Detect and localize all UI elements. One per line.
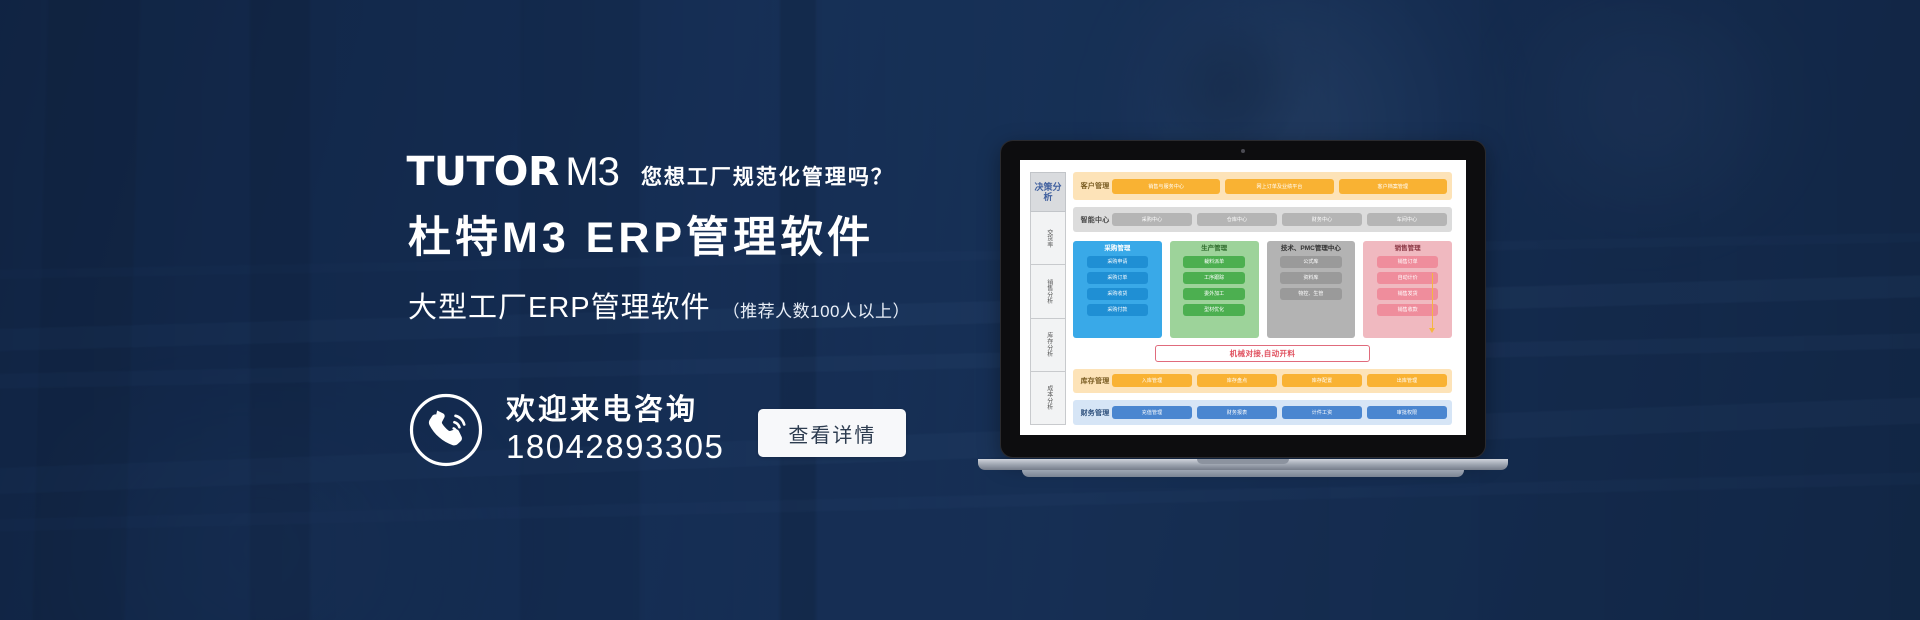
module-item[interactable]: 销售收款 bbox=[1377, 304, 1438, 316]
module-item[interactable]: 工序跟踪 bbox=[1183, 272, 1244, 284]
module-item[interactable]: 销售发货 bbox=[1377, 288, 1438, 300]
diagram-sidebar: 决策分析 交货率 销售分析 库存分析 成本分析 bbox=[1030, 172, 1066, 425]
chip[interactable]: 客户档案管理 bbox=[1339, 179, 1447, 194]
brand-logo: TUTOR M3 您想工厂规范化管理吗？ bbox=[408, 148, 1028, 192]
module-item[interactable]: 公式库 bbox=[1280, 256, 1341, 268]
contact-phone-number[interactable]: 18042893305 bbox=[506, 429, 724, 465]
band-customer-chips: 销售与服务中心 网上订单及业绩平台 客户档案管理 bbox=[1112, 179, 1447, 194]
laptop-base bbox=[978, 459, 1508, 470]
laptop-lid: 决策分析 交货率 销售分析 库存分析 成本分析 客户管理 销售与服务中心 bbox=[1000, 140, 1486, 458]
module-item[interactable]: 采购收货 bbox=[1087, 288, 1148, 300]
diagram-module-columns: 采购管理 采购申请 采购订单 采购收货 采购付款 生产管理 裁料派单 工序跟踪 bbox=[1073, 241, 1452, 338]
page-title: 杜特M3 ERP管理软件 bbox=[408, 214, 1028, 262]
module-item[interactable]: 自动计价 bbox=[1377, 272, 1438, 284]
chip[interactable]: 采购中心 bbox=[1112, 213, 1192, 226]
hero-banner: TUTOR M3 您想工厂规范化管理吗？ 杜特M3 ERP管理软件 大型工厂ER… bbox=[0, 0, 1920, 620]
band-smart-chips: 采购中心 仓库中心 财务中心 车间中心 bbox=[1112, 213, 1447, 226]
chip[interactable]: 审批权限 bbox=[1367, 406, 1447, 419]
module-tech-title: 技术、PMC管理中心 bbox=[1281, 245, 1341, 253]
band-smart-title: 智能中心 bbox=[1078, 215, 1112, 225]
band-inventory-chips: 入库管理 库存盘点 库存配置 出库管理 bbox=[1112, 374, 1447, 387]
module-sales-title: 销售管理 bbox=[1395, 245, 1421, 253]
chip[interactable]: 入库管理 bbox=[1112, 374, 1192, 387]
diagram-body: 客户管理 销售与服务中心 网上订单及业绩平台 客户档案管理 智能中心 bbox=[1073, 172, 1452, 425]
laptop-mockup: 决策分析 交货率 销售分析 库存分析 成本分析 客户管理 销售与服务中心 bbox=[978, 140, 1508, 480]
band-customer-title: 客户管理 bbox=[1078, 181, 1112, 191]
module-item[interactable]: 资料库 bbox=[1280, 272, 1341, 284]
band-customer: 客户管理 销售与服务中心 网上订单及业绩平台 客户档案管理 bbox=[1073, 172, 1452, 200]
laptop-foot bbox=[1022, 470, 1464, 477]
flow-arrow-down-icon bbox=[1432, 273, 1433, 329]
chip[interactable]: 仓库中心 bbox=[1197, 213, 1277, 226]
chip[interactable]: 库存盘点 bbox=[1197, 374, 1277, 387]
laptop-screen: 决策分析 交货率 销售分析 库存分析 成本分析 客户管理 销售与服务中心 bbox=[1020, 160, 1466, 435]
band-finance-title: 财务管理 bbox=[1078, 408, 1112, 418]
chip[interactable]: 车间中心 bbox=[1367, 213, 1447, 226]
module-purchase-title: 采购管理 bbox=[1104, 245, 1130, 253]
band-inventory-title: 库存管理 bbox=[1078, 376, 1112, 386]
chip[interactable]: 库存配置 bbox=[1282, 374, 1362, 387]
contact-welcome-label: 欢迎来电咨询 bbox=[506, 395, 724, 426]
hero-subtitle-row: 大型工厂ERP管理软件 （推荐人数100人以上） bbox=[408, 284, 1028, 326]
module-item[interactable]: 采购付款 bbox=[1087, 304, 1148, 316]
module-tech-pmc[interactable]: 技术、PMC管理中心 公式库 资料库 物控、生管 bbox=[1267, 241, 1356, 338]
erp-architecture-diagram: 决策分析 交货率 销售分析 库存分析 成本分析 客户管理 销售与服务中心 bbox=[1020, 160, 1466, 435]
logo-suffix: M3 bbox=[565, 152, 619, 192]
band-finance: 财务管理 充值管理 财务报表 计件工资 审批权限 bbox=[1073, 400, 1452, 425]
sidebar-item-1[interactable]: 销售分析 bbox=[1030, 265, 1066, 318]
chip[interactable]: 充值管理 bbox=[1112, 406, 1192, 419]
band-finance-chips: 充值管理 财务报表 计件工资 审批权限 bbox=[1112, 406, 1447, 419]
sidebar-item-0[interactable]: 交货率 bbox=[1030, 212, 1066, 265]
module-item[interactable]: 采购申请 bbox=[1087, 256, 1148, 268]
chip[interactable]: 计件工资 bbox=[1282, 406, 1362, 419]
chip[interactable]: 销售与服务中心 bbox=[1112, 179, 1220, 194]
module-item[interactable]: 销售订单 bbox=[1377, 256, 1438, 268]
contact-text: 欢迎来电咨询 18042893305 bbox=[506, 395, 724, 465]
module-production-title: 生产管理 bbox=[1201, 245, 1227, 253]
banner-content: TUTOR M3 您想工厂规范化管理吗？ 杜特M3 ERP管理软件 大型工厂ER… bbox=[0, 0, 1920, 620]
module-item[interactable]: 采购订单 bbox=[1087, 272, 1148, 284]
module-purchase[interactable]: 采购管理 采购申请 采购订单 采购收货 采购付款 bbox=[1073, 241, 1162, 338]
module-item[interactable]: 物控、生管 bbox=[1280, 288, 1341, 300]
contact-row: 欢迎来电咨询 18042893305 查看详情 bbox=[408, 392, 906, 468]
view-details-button[interactable]: 查看详情 bbox=[758, 409, 906, 457]
hero-subtitle: 大型工厂ERP管理软件 bbox=[408, 284, 711, 326]
brand-tagline: 您想工厂规范化管理吗？ bbox=[641, 167, 894, 192]
hero-subtitle-note: （推荐人数100人以上） bbox=[723, 297, 910, 322]
sidebar-item-2[interactable]: 库存分析 bbox=[1030, 319, 1066, 372]
module-item[interactable]: 型材优化 bbox=[1183, 304, 1244, 316]
webcam-icon bbox=[1241, 149, 1245, 153]
chip[interactable]: 财务中心 bbox=[1282, 213, 1362, 226]
band-smart-center: 智能中心 采购中心 仓库中心 财务中心 车间中心 bbox=[1073, 207, 1452, 232]
phone-call-icon bbox=[408, 392, 484, 468]
module-production[interactable]: 生产管理 裁料派单 工序跟踪 委外加工 型材优化 bbox=[1170, 241, 1259, 338]
chip[interactable]: 网上订单及业绩平台 bbox=[1225, 179, 1333, 194]
logo-wordmark: TUTOR bbox=[407, 152, 559, 192]
chip[interactable]: 财务报表 bbox=[1197, 406, 1277, 419]
diagram-callout: 机械对接,自动开料 bbox=[1155, 345, 1369, 362]
module-item[interactable]: 委外加工 bbox=[1183, 288, 1244, 300]
sidebar-item-3[interactable]: 成本分析 bbox=[1030, 372, 1066, 425]
module-item[interactable]: 裁料派单 bbox=[1183, 256, 1244, 268]
band-inventory: 库存管理 入库管理 库存盘点 库存配置 出库管理 bbox=[1073, 369, 1452, 394]
sidebar-title: 决策分析 bbox=[1030, 172, 1066, 212]
hero-copy: TUTOR M3 您想工厂规范化管理吗？ 杜特M3 ERP管理软件 大型工厂ER… bbox=[408, 148, 1028, 326]
module-sales[interactable]: 销售管理 销售订单 自动计价 销售发货 销售收款 bbox=[1363, 241, 1452, 338]
chip[interactable]: 出库管理 bbox=[1367, 374, 1447, 387]
